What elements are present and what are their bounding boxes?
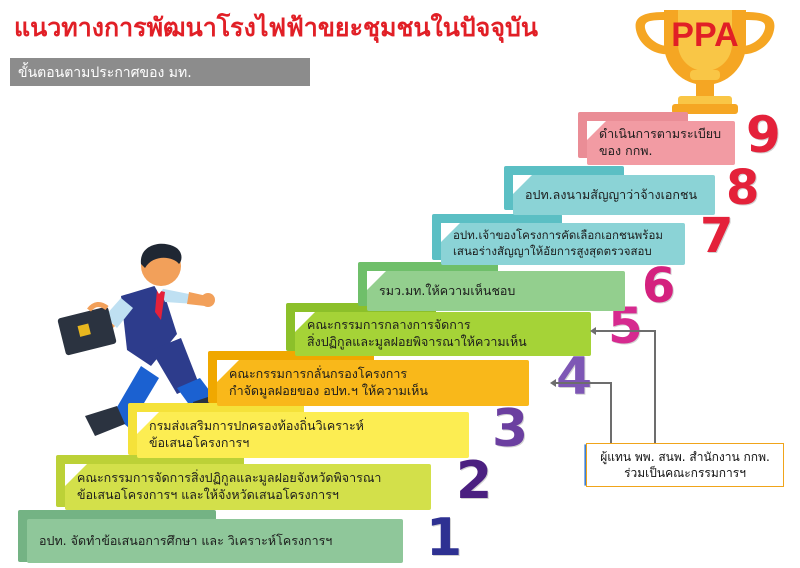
subtitle-text: ขั้นตอนตามประกาศของ มท. bbox=[18, 62, 192, 84]
step-text-line1: รมว.มท.ให้ความเห็นชอบ bbox=[379, 283, 515, 300]
note-line-2: ร่วมเป็นคณะกรรมการฯ bbox=[624, 465, 746, 481]
step-panel: กรมส่งเสริมการปกครองท้องถิ่นวิเคราะห์ ข้… bbox=[137, 412, 469, 458]
step-text-line1: กรมส่งเสริมการปกครองท้องถิ่นวิเคราะห์ bbox=[149, 418, 364, 435]
step-number: 8 bbox=[726, 164, 759, 212]
step-panel: รมว.มท.ให้ความเห็นชอบ bbox=[367, 271, 625, 311]
step-text: อปท.ลงนามสัญญาว่าจ้างเอกชน bbox=[513, 187, 705, 204]
step-number: 6 bbox=[642, 262, 675, 310]
step-notch bbox=[513, 175, 532, 194]
step-notch bbox=[587, 121, 606, 140]
connector-arrow-step-4 bbox=[550, 379, 556, 387]
step-text-line1: คณะกรรมการกลางการจัดการ bbox=[307, 317, 527, 334]
step-text-line2: ข้อเสนอโครงการฯ bbox=[149, 435, 364, 452]
trophy-label: PPA bbox=[671, 16, 738, 54]
step-number: 1 bbox=[426, 512, 462, 564]
connector-arrow-step-5 bbox=[590, 327, 596, 335]
step-text: อปท. จัดทำข้อเสนอการศึกษา และ วิเคราะห์โ… bbox=[27, 533, 340, 550]
step-number: 4 bbox=[556, 351, 592, 403]
step-text: อปท.เจ้าของโครงการคัดเลือกเอกชนพร้อม เสน… bbox=[441, 228, 671, 259]
committee-note-box: ผู้แทน พพ. สนพ. สำนักงาน กกพ. ร่วมเป็นคณ… bbox=[586, 443, 784, 487]
step-text: คณะกรรมการกลางการจัดการ สิ่งปฏิกูลและมูล… bbox=[295, 317, 535, 351]
step-text: คณะกรรมการจัดการสิ่งปฏิกูลและมูลฝอยจังหว… bbox=[65, 470, 389, 504]
step-text-line2: สิ่งปฏิกูลและมูลฝอยพิจารณาให้ความเห็น bbox=[307, 334, 527, 351]
step-number: 2 bbox=[456, 455, 492, 507]
infographic-canvas: แนวทางการพัฒนาโรงไฟฟ้าขยะชุมชนในปัจจุบัน… bbox=[0, 0, 800, 568]
step-notch bbox=[295, 312, 315, 332]
connector-to-step-4-vertical bbox=[610, 382, 612, 443]
connector-to-step-4-horizontal bbox=[556, 382, 611, 384]
connector-to-step-5-horizontal bbox=[596, 330, 655, 332]
note-line-1: ผู้แทน พพ. สนพ. สำนักงาน กกพ. bbox=[600, 449, 770, 465]
page-title: แนวทางการพัฒนาโรงไฟฟ้าขยะชุมชนในปัจจุบัน bbox=[14, 14, 538, 43]
step-panel: คณะกรรมการจัดการสิ่งปฏิกูลและมูลฝอยจังหว… bbox=[65, 464, 431, 510]
step-notch bbox=[65, 464, 87, 486]
step-panel: อปท.เจ้าของโครงการคัดเลือกเอกชนพร้อม เสน… bbox=[441, 223, 685, 265]
step-text-line2: ของ กกพ. bbox=[599, 143, 721, 160]
step-number: 7 bbox=[700, 212, 733, 260]
step-text-line2: กำจัดมูลฝอยของ อปท.ฯ ให้ความเห็น bbox=[229, 383, 428, 400]
step-text: กรมส่งเสริมการปกครองท้องถิ่นวิเคราะห์ ข้… bbox=[137, 418, 372, 452]
step-text-line2: เสนอร่างสัญญาให้อัยการสูงสุดตรวจสอบ bbox=[453, 244, 663, 260]
step-text-line1: คณะกรรมการกลั่นกรองโครงการ bbox=[229, 366, 428, 383]
step-text-line1: ดำเนินการตามระเบียบ bbox=[599, 126, 721, 143]
step-panel: ดำเนินการตามระเบียบ ของ กกพ. bbox=[587, 121, 735, 165]
step-text: ดำเนินการตามระเบียบ ของ กกพ. bbox=[587, 126, 729, 160]
step-text-line1: อปท.ลงนามสัญญาว่าจ้างเอกชน bbox=[525, 187, 697, 204]
step-panel: อปท. จัดทำข้อเสนอการศึกษา และ วิเคราะห์โ… bbox=[27, 519, 403, 563]
step-notch bbox=[217, 360, 239, 382]
step-text: คณะกรรมการกลั่นกรองโครงการ กำจัดมูลฝอยขอ… bbox=[217, 366, 436, 400]
step-panel: อปท.ลงนามสัญญาว่าจ้างเอกชน bbox=[513, 175, 715, 215]
step-text: รมว.มท.ให้ความเห็นชอบ bbox=[367, 283, 523, 300]
step-text-line2: ข้อเสนอโครงการฯ และให้จังหวัดเสนอโครงการ… bbox=[77, 487, 381, 504]
step-text-line1: อปท.เจ้าของโครงการคัดเลือกเอกชนพร้อม bbox=[453, 228, 663, 244]
step-number: 9 bbox=[746, 110, 781, 160]
step-number: 3 bbox=[492, 403, 528, 455]
trophy-icon: PPA bbox=[620, 0, 790, 114]
step-panel: คณะกรรมการกลางการจัดการ สิ่งปฏิกูลและมูล… bbox=[295, 312, 591, 356]
step-notch bbox=[367, 271, 386, 290]
step-notch bbox=[441, 223, 460, 242]
step-notch bbox=[137, 412, 159, 434]
step-text-line1: อปท. จัดทำข้อเสนอการศึกษา และ วิเคราะห์โ… bbox=[39, 533, 332, 550]
step-text-line1: คณะกรรมการจัดการสิ่งปฏิกูลและมูลฝอยจังหว… bbox=[77, 470, 381, 487]
step-panel: คณะกรรมการกลั่นกรองโครงการ กำจัดมูลฝอยขอ… bbox=[217, 360, 529, 406]
connector-to-step-5-vertical bbox=[654, 330, 656, 443]
